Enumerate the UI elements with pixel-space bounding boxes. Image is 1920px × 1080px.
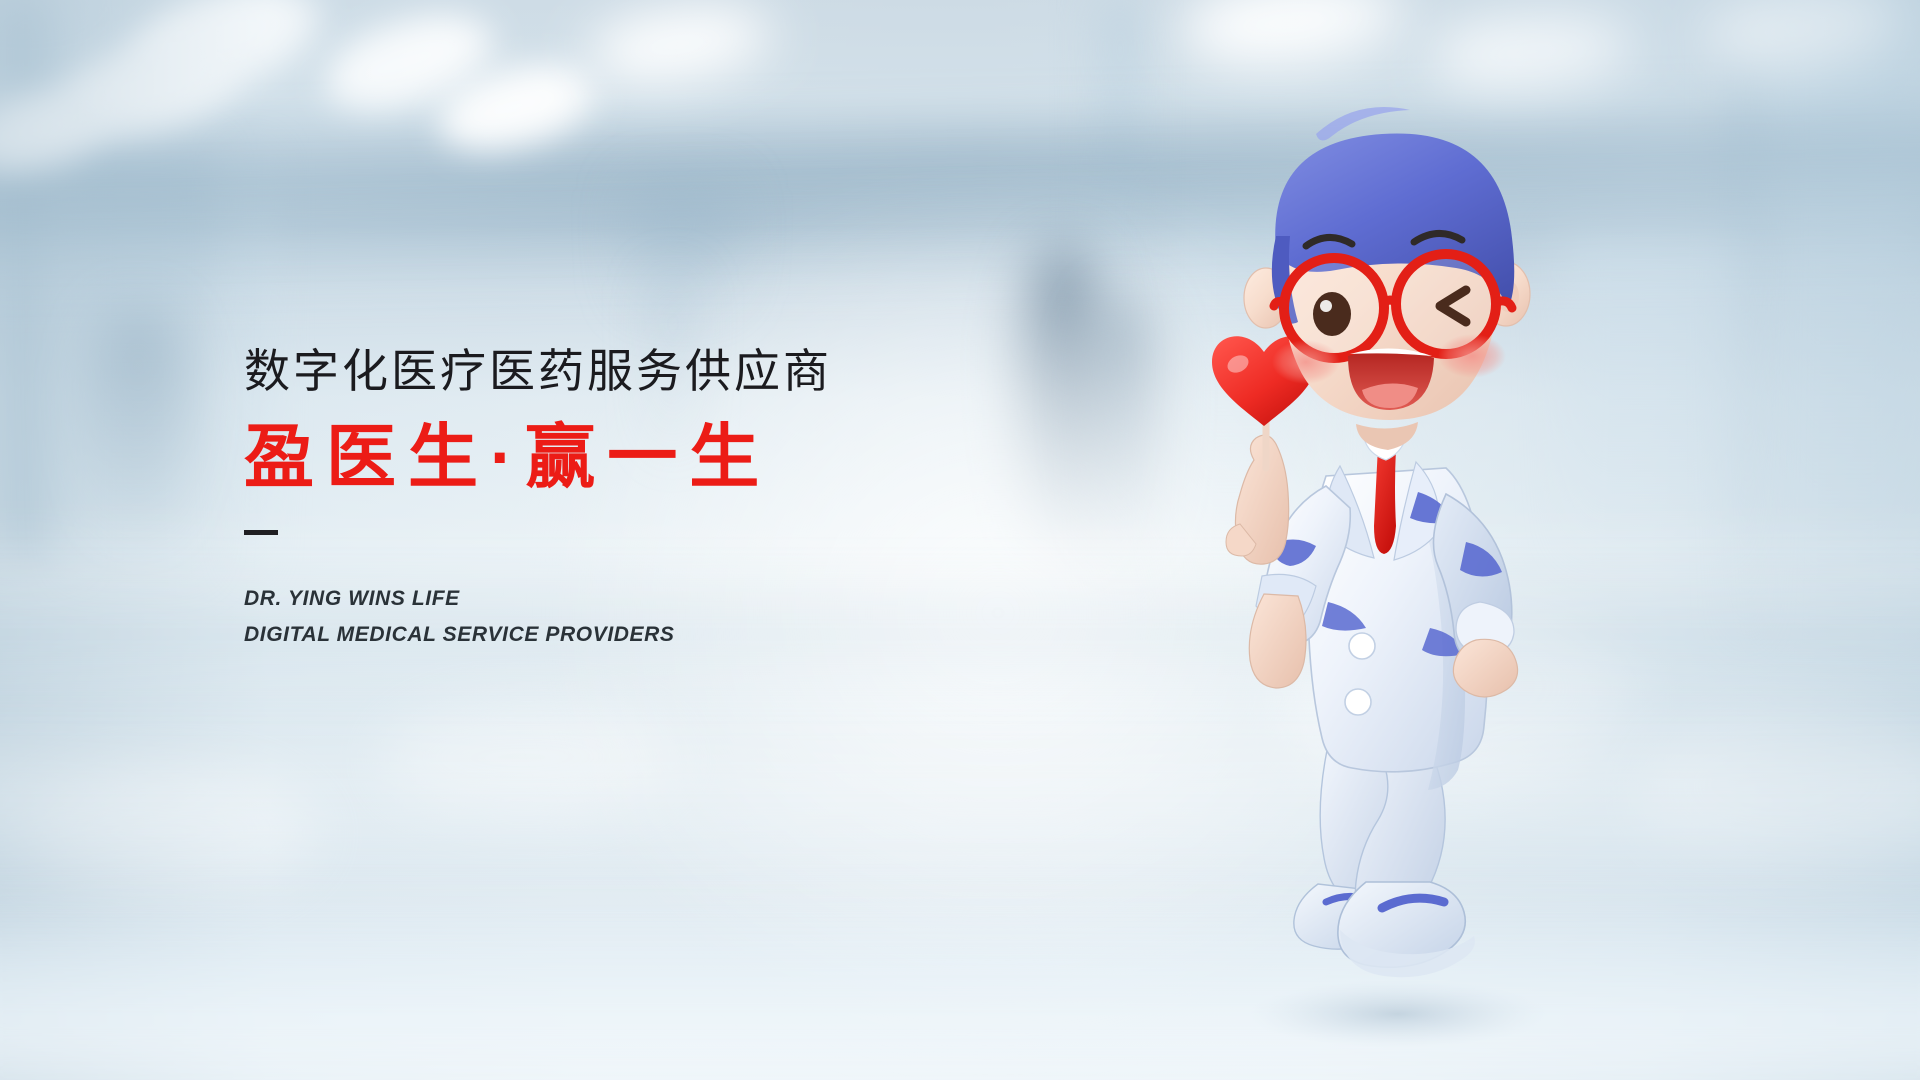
mascot-left-forearm <box>1249 594 1306 688</box>
hero-banner: 数字化医疗医药服务供应商 盈医生·赢一生 DR. YING WINS LIFE … <box>0 0 1920 1080</box>
mascot-coat-button <box>1349 633 1375 659</box>
mascot-eye-open <box>1313 292 1351 336</box>
mascot-glasses-bridge <box>1384 300 1396 304</box>
hero-slogan: 盈医生·赢一生 <box>244 422 1004 492</box>
hero-subtitle-en: DR. YING WINS LIFE DIGITAL MEDICAL SERVI… <box>244 581 1004 653</box>
mascot-neck <box>1356 422 1418 450</box>
mascot-cheek-left <box>1272 340 1340 384</box>
mascot-cheek-right <box>1438 334 1506 378</box>
mascot-right-hand <box>1453 639 1517 697</box>
floor-reflection <box>0 760 1920 880</box>
hero-copy-block: 数字化医疗医药服务供应商 盈医生·赢一生 DR. YING WINS LIFE … <box>244 348 1004 653</box>
mascot-glasses-temple-left <box>1274 302 1284 307</box>
page-title: 数字化医疗医药服务供应商 <box>244 348 1004 394</box>
hero-subtitle-line-1: DR. YING WINS LIFE <box>244 581 1004 617</box>
mascot-eye-highlight <box>1320 300 1332 312</box>
hero-subtitle-line-2: DIGITAL MEDICAL SERVICE PROVIDERS <box>244 617 1004 653</box>
mascot-necktie <box>1374 444 1396 554</box>
doctor-mascot-illustration <box>1180 46 1620 1056</box>
divider-rule <box>244 530 278 535</box>
floor-foreground <box>0 930 1920 1080</box>
mascot-coat-button <box>1345 689 1371 715</box>
mascot-ground-shadow <box>1248 980 1548 1048</box>
